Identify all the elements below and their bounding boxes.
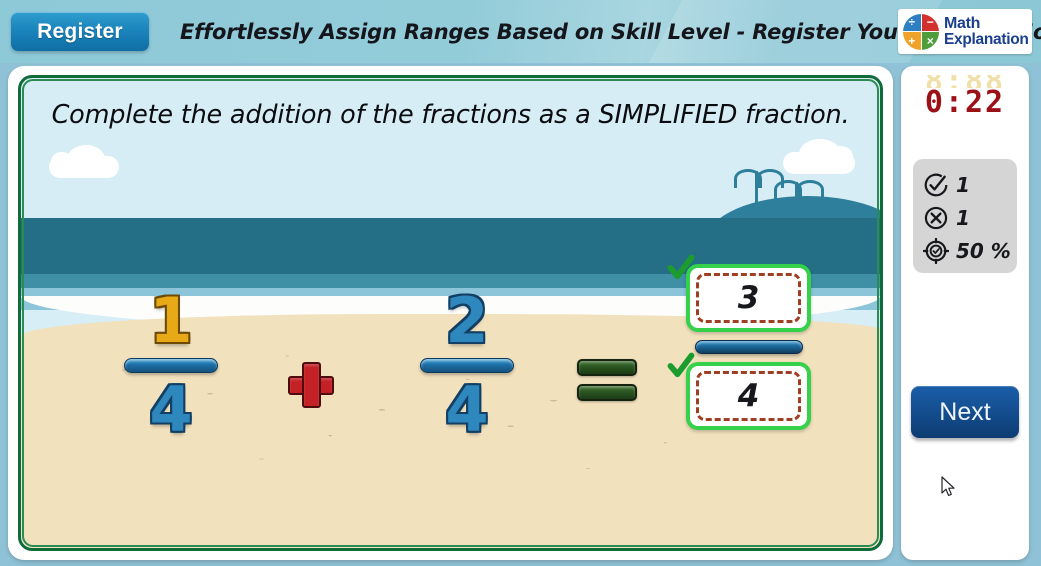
fraction-2-bar xyxy=(420,358,514,373)
fraction-2-denominator: 4 xyxy=(417,379,517,441)
answer-denominator-value: 4 xyxy=(696,371,801,421)
next-button[interactable]: Next xyxy=(911,386,1019,438)
plus-operator-icon xyxy=(286,360,336,410)
plus-symbol-icon: + xyxy=(903,32,921,50)
equals-operator-icon xyxy=(577,359,639,405)
timer-value: 0:22 xyxy=(901,88,1029,118)
answer-denominator-wrap: 4 xyxy=(665,362,825,430)
game-frame: Complete the addition of the fractions a… xyxy=(8,66,893,560)
math-explanation-logo[interactable]: ÷ − + × Math Explanation xyxy=(898,9,1032,54)
target-icon xyxy=(923,238,949,264)
check-mark-icon-denominator xyxy=(667,352,695,380)
fraction-1-denominator: 4 xyxy=(121,379,221,441)
fraction-equation: 1 4 2 4 3 xyxy=(21,78,880,548)
fraction-1: 1 4 xyxy=(121,290,221,441)
fraction-2: 2 4 xyxy=(417,290,517,441)
logo-line-1: Math xyxy=(944,16,1029,32)
sidebar-panel: 8:88 0:22 1 1 50 % xyxy=(901,66,1029,560)
answer-fraction: 3 4 xyxy=(665,264,825,430)
next-button-label: Next xyxy=(939,398,990,427)
timer-display: 8:88 0:22 xyxy=(901,75,1029,118)
register-button[interactable]: Register xyxy=(11,12,149,51)
stat-correct: 1 xyxy=(923,168,1017,201)
top-header-bar: Register Effortlessly Assign Ranges Base… xyxy=(0,0,1041,63)
check-mark-icon-numerator xyxy=(667,254,695,282)
fraction-1-numerator: 1 xyxy=(121,290,221,352)
answer-fraction-bar xyxy=(695,340,803,354)
answer-slot-denominator[interactable]: 4 xyxy=(686,362,811,430)
stat-accuracy: 50 % xyxy=(923,234,1017,267)
fraction-2-numerator: 2 xyxy=(417,290,517,352)
answer-slot-numerator[interactable]: 3 xyxy=(686,264,811,332)
logo-line-2: Explanation xyxy=(944,32,1029,47)
register-button-label: Register xyxy=(37,20,123,44)
logo-operators-icon: ÷ − + × xyxy=(903,14,939,50)
stat-accuracy-value: 50 % xyxy=(956,239,1011,263)
mouse-cursor xyxy=(941,476,957,498)
check-circle-icon xyxy=(923,172,949,198)
beach-scene: Complete the addition of the fractions a… xyxy=(21,78,880,548)
stat-incorrect-value: 1 xyxy=(956,206,970,230)
stat-correct-value: 1 xyxy=(956,173,970,197)
stats-panel: 1 1 50 % xyxy=(913,159,1017,273)
fraction-1-bar xyxy=(124,358,218,373)
stat-incorrect: 1 xyxy=(923,201,1017,234)
answer-numerator-wrap: 3 xyxy=(665,264,825,332)
x-circle-icon xyxy=(923,205,949,231)
times-symbol-icon: × xyxy=(922,32,940,50)
minus-symbol-icon: − xyxy=(922,14,940,32)
header-tagline: Effortlessly Assign Ranges Based on Skil… xyxy=(180,20,880,44)
answer-numerator-value: 3 xyxy=(696,273,801,323)
divide-symbol-icon: ÷ xyxy=(903,14,921,32)
logo-wordmark: Math Explanation xyxy=(944,16,1029,47)
